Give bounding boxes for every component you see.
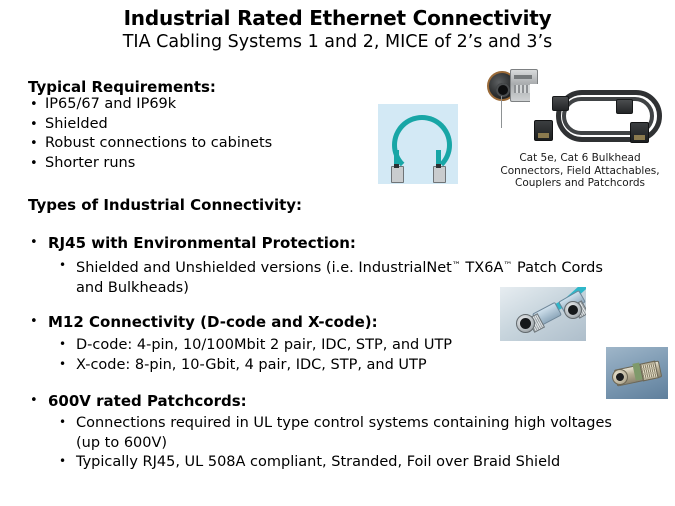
list-item: Typically RJ45, UL 508A compliant, Stran… [58, 453, 646, 473]
m12-head-shape [564, 301, 582, 319]
cable-connector-shape [552, 96, 569, 111]
slide-canvas: Industrial Rated Ethernet Connectivity T… [0, 0, 675, 506]
cable-plug-shape [534, 120, 553, 141]
list-item: Connections required in UL type control … [58, 414, 636, 453]
rj45-plug-shape [433, 166, 446, 183]
rj45-plug-shape [391, 166, 404, 183]
bulkhead-caption: Cat 5e, Cat 6 Bulkhead Connectors, Field… [490, 152, 670, 190]
slide-title-block: Industrial Rated Ethernet Connectivity T… [0, 6, 675, 54]
list-item: Robust connections to cabinets [28, 134, 272, 154]
typical-requirements-list: IP65/67 and IP69k Shielded Robust connec… [28, 95, 272, 173]
list-item: Shorter runs [28, 154, 272, 174]
trademark-symbol: ™ [452, 261, 461, 271]
page-title: Industrial Rated Ethernet Connectivity [0, 6, 675, 30]
m12-head-shape [516, 314, 535, 333]
list-item: D-code: 4-pin, 10/100Mbit 2 pair, IDC, S… [58, 336, 546, 356]
metal-m12-connector-image [606, 347, 668, 399]
patch-cord-image [378, 104, 458, 184]
list-item: Shielded [28, 115, 272, 135]
cable-connector-shape [616, 99, 633, 114]
industrial-cable-image [530, 84, 668, 148]
section-title-600v: 600V rated Patchcords: [28, 392, 247, 411]
connector-knurl-shape [639, 361, 658, 382]
section-title-rj45: RJ45 with Environmental Protection: [28, 234, 356, 253]
rj45-sub-text-mid: TX6A [461, 260, 504, 276]
list-item: X-code: 8-pin, 10-Gbit, 4 pair, IDC, STP… [58, 356, 546, 376]
section-title-m12: M12 Connectivity (D-code and X-code): [28, 313, 378, 332]
m12-connectors-image [500, 287, 586, 341]
cable-plug-shape [630, 122, 649, 143]
connector-stem-shape [501, 96, 502, 128]
connector-ring-shape [496, 83, 510, 97]
types-of-connectivity-heading: Types of Industrial Connectivity: [28, 196, 302, 215]
rj45-sub-text-pre: Shielded and Unshielded versions (i.e. I… [76, 260, 452, 276]
page-subtitle: TIA Cabling Systems 1 and 2, MICE of 2’s… [0, 31, 675, 54]
list-item: IP65/67 and IP69k [28, 95, 272, 115]
